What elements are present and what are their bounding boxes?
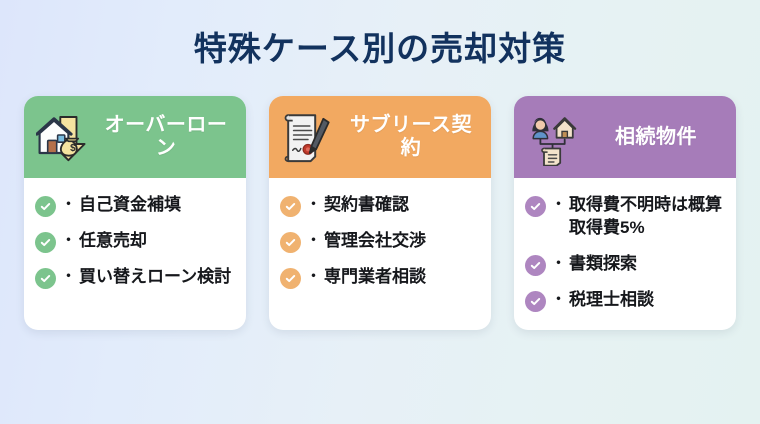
check-icon bbox=[35, 232, 56, 253]
list-item: ・ 管理会社交渉 bbox=[280, 230, 479, 253]
contract-scroll-pen-icon bbox=[281, 108, 335, 166]
card-header-inherited-property: 相続物件 bbox=[514, 96, 736, 178]
list-item-label: 買い替えローン検討 bbox=[79, 266, 234, 289]
list-item: ・ 買い替えローン検討 bbox=[35, 266, 234, 289]
check-icon bbox=[35, 268, 56, 289]
list-item-label: 税理士相談 bbox=[569, 289, 724, 312]
check-icon bbox=[525, 196, 546, 217]
card-body-over-loan: ・ 自己資金補填 ・ 任意売却 ・ 買い替えローン検討 bbox=[24, 178, 246, 330]
list-item-label: 管理会社交渉 bbox=[324, 230, 479, 253]
list-bullet: ・ bbox=[305, 266, 322, 289]
list-item-label: 書類探索 bbox=[569, 253, 724, 276]
list-item: ・ 取得費不明時は概算取得費5% bbox=[525, 194, 724, 240]
list-item-label: 自己資金補填 bbox=[79, 194, 234, 217]
list-bullet: ・ bbox=[550, 289, 567, 312]
list-bullet: ・ bbox=[305, 230, 322, 253]
list-bullet: ・ bbox=[60, 230, 77, 253]
check-icon bbox=[35, 196, 56, 217]
list-item-label: 取得費不明時は概算取得費5% bbox=[569, 194, 724, 240]
page-title: 特殊ケース別の売却対策 bbox=[194, 32, 566, 65]
check-icon bbox=[280, 268, 301, 289]
card-title-over-loan: オーバーローン bbox=[96, 114, 236, 160]
list-item-label: 契約書確認 bbox=[324, 194, 479, 217]
check-icon bbox=[280, 232, 301, 253]
list-bullet: ・ bbox=[550, 194, 567, 217]
card-body-sublease-contract: ・ 契約書確認 ・ 管理会社交渉 ・ 専門業者相談 bbox=[269, 178, 491, 330]
card-body-inherited-property: ・ 取得費不明時は概算取得費5% ・ 書類探索 ・ 税理士相談 bbox=[514, 178, 736, 330]
card-sublease-contract[interactable]: サブリース契約 ・ 契約書確認 ・ 管理会社交渉 ・ bbox=[269, 96, 491, 330]
person-house-document-icon bbox=[526, 108, 580, 166]
list-item: ・ 契約書確認 bbox=[280, 194, 479, 217]
list-item: ・ 書類探索 bbox=[525, 253, 724, 276]
list-bullet: ・ bbox=[60, 194, 77, 217]
check-icon bbox=[280, 196, 301, 217]
list-bullet: ・ bbox=[60, 266, 77, 289]
house-money-down-arrow-icon: $ bbox=[36, 108, 90, 166]
title-bar: 特殊ケース別の売却対策 bbox=[0, 0, 760, 96]
list-item: ・ 自己資金補填 bbox=[35, 194, 234, 217]
cards-row: $ オーバーローン ・ 自己資金補填 ・ 任意売却 bbox=[0, 96, 760, 330]
list-bullet: ・ bbox=[305, 194, 322, 217]
card-header-over-loan: $ オーバーローン bbox=[24, 96, 246, 178]
check-icon bbox=[525, 255, 546, 276]
card-header-sublease-contract: サブリース契約 bbox=[269, 96, 491, 178]
card-inherited-property[interactable]: 相続物件 ・ 取得費不明時は概算取得費5% ・ 書類探索 bbox=[514, 96, 736, 330]
list-item-label: 専門業者相談 bbox=[324, 266, 479, 289]
list-item-label: 任意売却 bbox=[79, 230, 234, 253]
list-bullet: ・ bbox=[550, 253, 567, 276]
card-over-loan[interactable]: $ オーバーローン ・ 自己資金補填 ・ 任意売却 bbox=[24, 96, 246, 330]
check-icon bbox=[525, 291, 546, 312]
list-item: ・ 専門業者相談 bbox=[280, 266, 479, 289]
card-title-sublease-contract: サブリース契約 bbox=[341, 114, 481, 160]
list-item: ・ 税理士相談 bbox=[525, 289, 724, 312]
svg-text:$: $ bbox=[70, 143, 76, 154]
list-item: ・ 任意売却 bbox=[35, 230, 234, 253]
card-title-inherited-property: 相続物件 bbox=[586, 126, 726, 149]
